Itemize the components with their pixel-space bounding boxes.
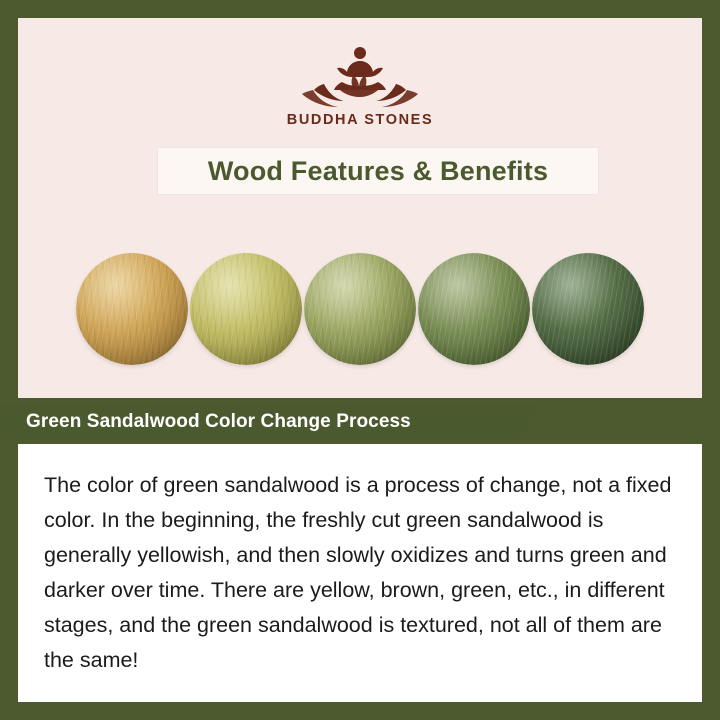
page-title: Wood Features & Benefits: [208, 156, 548, 187]
header-panel: BUDDHA STONES Wood Features & Benefits: [18, 18, 702, 398]
page-title-band: Wood Features & Benefits: [158, 148, 598, 194]
sphere-shading: [76, 253, 188, 365]
brand-name: BUDDHA STONES: [287, 112, 433, 128]
section-heading: Green Sandalwood Color Change Process: [0, 411, 411, 433]
sphere-shading: [190, 253, 302, 365]
body-panel: The color of green sandalwood is a proce…: [18, 444, 702, 702]
lotus-meditation-icon: [300, 40, 420, 108]
ribbon-tail: [520, 404, 544, 440]
sphere-shading: [532, 253, 644, 365]
sandalwood-sphere-row: [36, 246, 684, 371]
sphere-shading: [304, 253, 416, 365]
sphere-shading: [418, 253, 530, 365]
body-paragraph: The color of green sandalwood is a proce…: [44, 468, 676, 678]
sphere-stage-4: [418, 253, 530, 365]
infographic-page: BUDDHA STONES Wood Features & Benefits: [0, 0, 720, 720]
sphere-stage-2: [190, 253, 302, 365]
brand-logo: BUDDHA STONES: [18, 40, 702, 128]
sphere-stage-1: [76, 253, 188, 365]
sphere-stage-5: [532, 253, 644, 365]
section-ribbon: Green Sandalwood Color Change Process: [0, 404, 520, 440]
sphere-stage-3: [304, 253, 416, 365]
